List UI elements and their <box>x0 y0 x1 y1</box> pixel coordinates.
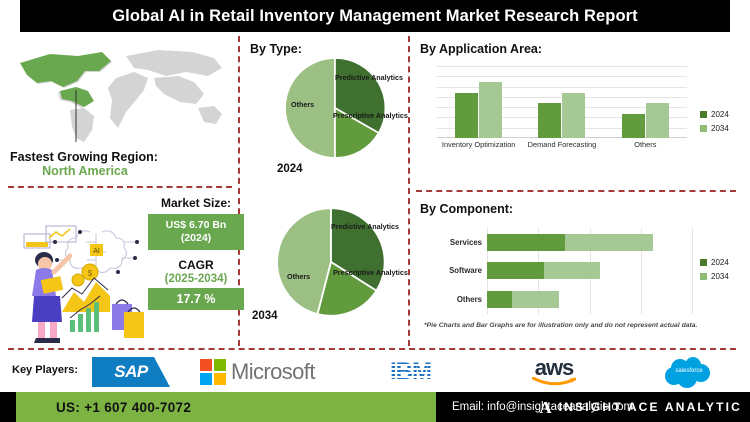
sap-wordmark: SAP <box>92 357 170 387</box>
bar-2024 <box>622 114 645 138</box>
x-label-others: Others <box>608 140 682 150</box>
bar-group-others <box>622 66 669 138</box>
logo-microsoft: Microsoft <box>200 354 315 390</box>
footer-bar: US: +1 607 400-7072 Email: info@insighta… <box>0 392 750 422</box>
aws-smile-icon <box>532 377 576 386</box>
pie-slice-label-predictive: Predictive Analytics <box>335 73 403 82</box>
bar-2024 <box>538 103 561 138</box>
logo-ibm: IBM <box>390 354 431 390</box>
x-label-inventory-optimization: Inventory Optimization <box>442 140 516 150</box>
bar-group-inventory-optimization <box>455 66 502 138</box>
pie-chart-2024: Predictive Analytics Prescriptive Analyt… <box>283 56 387 160</box>
pie-year-2034: 2034 <box>252 310 278 322</box>
segment-2034 <box>565 234 653 251</box>
divider-horizontal-bottom <box>8 348 736 350</box>
divider-horizontal-right <box>416 190 736 192</box>
legend-component: 2024 2034 <box>700 258 729 286</box>
legend-label-2024: 2024 <box>711 110 729 119</box>
bar-row-software <box>487 262 692 279</box>
ai-retail-illustration: AI $ <box>12 208 148 344</box>
cagr-block: CAGR (2025-2034) 17.7 % <box>148 258 244 310</box>
y-label-others: Others <box>420 291 482 308</box>
y-label-software: Software <box>420 262 482 279</box>
bar-2034 <box>479 82 502 138</box>
pie-slice-label-predictive: Predictive Analytics <box>331 222 399 231</box>
market-size-block: Market Size: US$ 6.70 Bn (2024) <box>148 196 244 250</box>
world-map <box>8 42 236 147</box>
ibm-wordmark: IBM <box>390 358 431 386</box>
region-label: Fastest Growing Region: <box>10 150 230 164</box>
footer-phone[interactable]: US: +1 607 400-7072 <box>16 392 436 422</box>
key-players-row: Key Players: SAP Microsoft IBM aws <box>0 352 750 392</box>
legend-item-2024: 2024 <box>700 258 729 267</box>
segment-2024 <box>487 234 565 251</box>
segment-2024 <box>487 291 512 308</box>
section-title-by-component: By Component: <box>420 202 513 216</box>
page-title: Global AI in Retail Inventory Management… <box>112 7 638 26</box>
microsoft-wordmark: Microsoft <box>231 359 315 385</box>
logo-sap: SAP <box>92 354 170 390</box>
legend-swatch-2034 <box>700 125 707 132</box>
segment-2034 <box>544 262 599 279</box>
salesforce-wordmark: salesforce <box>675 368 703 374</box>
y-label-services: Services <box>420 234 482 251</box>
legend-label-2034: 2034 <box>711 124 729 133</box>
svg-text:AI: AI <box>93 248 100 255</box>
legend-label-2034: 2034 <box>711 272 729 281</box>
x-label-demand-forecasting: Demand Forecasting <box>525 140 599 150</box>
logo-aws: aws <box>532 354 576 390</box>
component-y-labels: Services Software Others <box>420 228 482 314</box>
bar-row-others <box>487 291 692 308</box>
market-size-badge: US$ 6.70 Bn (2024) <box>148 214 244 250</box>
cagr-value: 17.7 % <box>148 288 244 310</box>
bar-2024 <box>455 93 478 138</box>
bar-group-demand-forecasting <box>538 66 585 138</box>
svg-text:$: $ <box>88 269 93 278</box>
legend-application-area: 2024 2034 <box>700 110 729 138</box>
legend-swatch-2024 <box>700 111 707 118</box>
salesforce-cloud-icon: salesforce <box>660 355 716 389</box>
legend-item-2024: 2024 <box>700 110 729 119</box>
divider-horizontal-left <box>8 186 232 188</box>
fastest-growing-region: Fastest Growing Region: North America <box>10 150 230 178</box>
microsoft-squares-icon <box>200 359 226 385</box>
pie-year-2024: 2024 <box>277 163 303 175</box>
segment-2034 <box>512 291 559 308</box>
cagr-title: CAGR <box>148 258 244 272</box>
legend-item-2034: 2034 <box>700 124 729 133</box>
aws-wordmark: aws <box>535 358 574 378</box>
bar-2034 <box>646 103 669 138</box>
infographic-page: Global AI in Retail Inventory Management… <box>0 0 750 422</box>
legend-item-2034: 2034 <box>700 272 729 281</box>
cagr-years: (2025-2034) <box>148 273 244 285</box>
legend-swatch-2034 <box>700 273 707 280</box>
key-players-label: Key Players: <box>12 364 78 376</box>
logo-salesforce: salesforce <box>660 354 716 390</box>
region-value: North America <box>10 164 160 178</box>
divider-vertical-right <box>408 36 410 346</box>
pie-slice-label-others: Others <box>291 100 314 109</box>
legend-label-2024: 2024 <box>711 258 729 267</box>
application-area-x-labels: Inventory Optimization Demand Forecastin… <box>437 140 687 150</box>
application-area-bar-chart <box>437 66 687 138</box>
pie-chart-2034: Predictive Analytics Prescriptive Analyt… <box>275 206 387 318</box>
pie-slice-label-prescriptive: Prescriptive Analytics <box>333 268 408 277</box>
market-size-year: (2024) <box>150 232 242 245</box>
report-header: Global AI in Retail Inventory Management… <box>20 0 730 32</box>
footer-brand: A INSIGHT ACE ANALYTIC <box>539 392 742 422</box>
segment-2024 <box>487 262 544 279</box>
market-size-value: US$ 6.70 Bn <box>150 219 242 232</box>
section-title-by-application: By Application Area: <box>420 42 542 56</box>
bar-row-services <box>487 234 692 251</box>
pie-slice-label-others: Others <box>287 272 310 281</box>
legend-swatch-2024 <box>700 259 707 266</box>
bar-2034 <box>562 93 585 138</box>
market-size-title: Market Size: <box>148 196 244 210</box>
component-bar-chart <box>487 228 692 314</box>
brand-name: INSIGHT ACE ANALYTIC <box>559 400 742 414</box>
pie-slice-label-prescriptive: Prescriptive Analytics <box>333 111 408 120</box>
section-title-by-type: By Type: <box>250 42 302 56</box>
brand-logo-icon: A <box>539 399 551 416</box>
chart-disclaimer: *Pie Charts and Bar Graphs are for illus… <box>424 322 697 329</box>
